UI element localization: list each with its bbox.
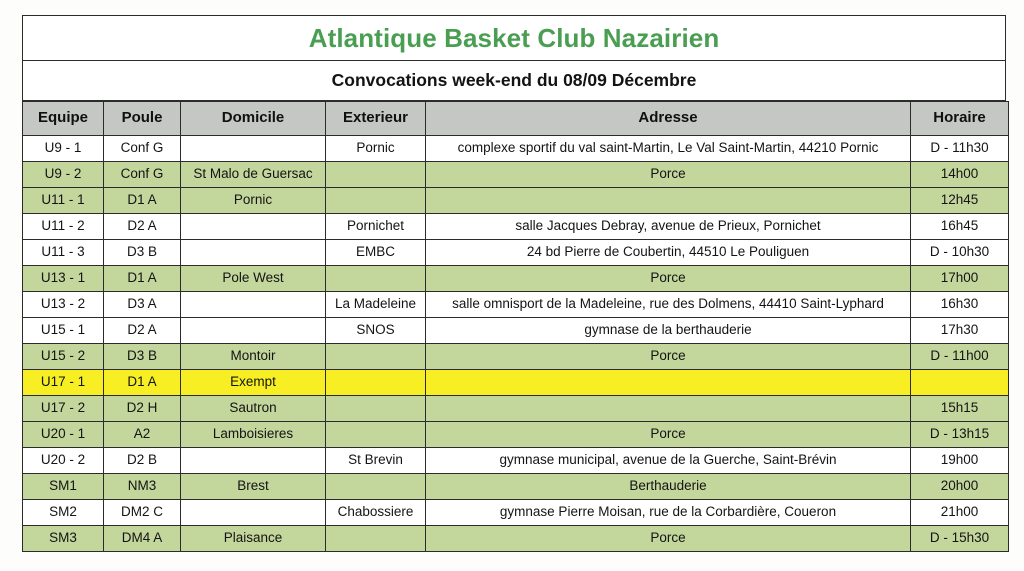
cell-exterieur: La Madeleine: [326, 292, 426, 318]
cell-horaire: 19h00: [911, 448, 1009, 474]
cell-domicile: Sautron: [181, 396, 326, 422]
document-banner: Atlantique Basket Club Nazairien Convoca…: [22, 15, 1006, 101]
cell-poule: D1 A: [104, 266, 181, 292]
column-header-equipe: Equipe: [23, 102, 104, 136]
table-row: U9 - 2Conf GSt Malo de GuersacPorce14h00: [23, 162, 1009, 188]
cell-horaire: D - 10h30: [911, 240, 1009, 266]
cell-poule: DM4 A: [104, 526, 181, 552]
cell-domicile: Pornic: [181, 188, 326, 214]
cell-equipe: U20 - 2: [23, 448, 104, 474]
cell-adresse: gymnase de la berthauderie: [426, 318, 911, 344]
cell-horaire: 16h30: [911, 292, 1009, 318]
cell-equipe: SM1: [23, 474, 104, 500]
cell-domicile: Exempt: [181, 370, 326, 396]
table-row: U13 - 1D1 APole WestPorce17h00: [23, 266, 1009, 292]
table-row: U17 - 2D2 HSautron15h15: [23, 396, 1009, 422]
cell-horaire: 17h00: [911, 266, 1009, 292]
cell-horaire: 14h00: [911, 162, 1009, 188]
cell-domicile: [181, 318, 326, 344]
cell-domicile: St Malo de Guersac: [181, 162, 326, 188]
cell-horaire: 15h15: [911, 396, 1009, 422]
cell-adresse: Porce: [426, 162, 911, 188]
cell-horaire: [911, 370, 1009, 396]
cell-horaire: D - 11h00: [911, 344, 1009, 370]
cell-horaire: 12h45: [911, 188, 1009, 214]
cell-equipe: U11 - 1: [23, 188, 104, 214]
convocation-sheet: Atlantique Basket Club Nazairien Convoca…: [22, 15, 1008, 552]
cell-poule: D2 A: [104, 318, 181, 344]
cell-exterieur: [326, 344, 426, 370]
title-row: Atlantique Basket Club Nazairien: [23, 16, 1006, 61]
cell-adresse: [426, 396, 911, 422]
cell-adresse: gymnase Pierre Moisan, rue de la Corbard…: [426, 500, 911, 526]
cell-poule: Conf G: [104, 162, 181, 188]
cell-exterieur: Pornic: [326, 136, 426, 162]
cell-adresse: gymnase municipal, avenue de la Guerche,…: [426, 448, 911, 474]
table-row: U20 - 2D2 BSt Brevingymnase municipal, a…: [23, 448, 1009, 474]
table-row: U11 - 1D1 APornic12h45: [23, 188, 1009, 214]
cell-adresse: Porce: [426, 266, 911, 292]
column-header-horaire: Horaire: [911, 102, 1009, 136]
cell-domicile: [181, 448, 326, 474]
cell-equipe: U17 - 1: [23, 370, 104, 396]
cell-exterieur: St Brevin: [326, 448, 426, 474]
cell-poule: D2 H: [104, 396, 181, 422]
cell-equipe: SM3: [23, 526, 104, 552]
cell-equipe: U20 - 1: [23, 422, 104, 448]
cell-poule: NM3: [104, 474, 181, 500]
column-header-poule: Poule: [104, 102, 181, 136]
cell-poule: D3 B: [104, 344, 181, 370]
cell-domicile: [181, 214, 326, 240]
cell-horaire: D - 15h30: [911, 526, 1009, 552]
scanned-page: Atlantique Basket Club Nazairien Convoca…: [0, 0, 1024, 571]
cell-exterieur: [326, 266, 426, 292]
cell-poule: D3 A: [104, 292, 181, 318]
cell-equipe: U13 - 2: [23, 292, 104, 318]
cell-exterieur: Chabossiere: [326, 500, 426, 526]
cell-equipe: U9 - 2: [23, 162, 104, 188]
column-header-domicile: Domicile: [181, 102, 326, 136]
page-title: Atlantique Basket Club Nazairien: [23, 16, 1006, 61]
cell-horaire: D - 11h30: [911, 136, 1009, 162]
cell-equipe: U13 - 1: [23, 266, 104, 292]
cell-exterieur: [326, 474, 426, 500]
cell-exterieur: [326, 422, 426, 448]
table-row: U15 - 1D2 ASNOSgymnase de la berthauderi…: [23, 318, 1009, 344]
table-body: U9 - 1Conf GPorniccomplexe sportif du va…: [23, 136, 1009, 552]
convocations-table: EquipePouleDomicileExterieurAdresseHorai…: [22, 101, 1009, 552]
cell-domicile: [181, 240, 326, 266]
cell-adresse: Berthauderie: [426, 474, 911, 500]
cell-horaire: 20h00: [911, 474, 1009, 500]
page-subtitle: Convocations week-end du 08/09 Décembre: [23, 61, 1006, 101]
cell-equipe: U9 - 1: [23, 136, 104, 162]
cell-exterieur: EMBC: [326, 240, 426, 266]
cell-domicile: [181, 292, 326, 318]
cell-adresse: Porce: [426, 344, 911, 370]
cell-poule: D2 A: [104, 214, 181, 240]
cell-exterieur: [326, 162, 426, 188]
cell-poule: D1 A: [104, 188, 181, 214]
cell-domicile: Lamboisieres: [181, 422, 326, 448]
cell-horaire: 17h30: [911, 318, 1009, 344]
table-row: U20 - 1A2LamboisieresPorceD - 13h15: [23, 422, 1009, 448]
cell-adresse: salle omnisport de la Madeleine, rue des…: [426, 292, 911, 318]
column-header-adresse: Adresse: [426, 102, 911, 136]
cell-poule: D2 B: [104, 448, 181, 474]
cell-domicile: Montoir: [181, 344, 326, 370]
cell-poule: A2: [104, 422, 181, 448]
cell-horaire: 16h45: [911, 214, 1009, 240]
cell-poule: Conf G: [104, 136, 181, 162]
cell-horaire: D - 13h15: [911, 422, 1009, 448]
cell-domicile: Plaisance: [181, 526, 326, 552]
cell-domicile: [181, 500, 326, 526]
cell-adresse: complexe sportif du val saint-Martin, Le…: [426, 136, 911, 162]
table-header: EquipePouleDomicileExterieurAdresseHorai…: [23, 102, 1009, 136]
cell-poule: DM2 C: [104, 500, 181, 526]
cell-exterieur: [326, 370, 426, 396]
cell-poule: D3 B: [104, 240, 181, 266]
cell-adresse: salle Jacques Debray, avenue de Prieux, …: [426, 214, 911, 240]
table-row: SM3DM4 APlaisancePorceD - 15h30: [23, 526, 1009, 552]
cell-exterieur: Pornichet: [326, 214, 426, 240]
cell-equipe: U11 - 3: [23, 240, 104, 266]
table-row: U15 - 2D3 BMontoirPorceD - 11h00: [23, 344, 1009, 370]
table-row: U17 - 1D1 AExempt: [23, 370, 1009, 396]
table-row: U11 - 2D2 APornichetsalle Jacques Debray…: [23, 214, 1009, 240]
cell-adresse: [426, 370, 911, 396]
cell-exterieur: [326, 188, 426, 214]
cell-adresse: Porce: [426, 422, 911, 448]
table-row: U13 - 2D3 ALa Madeleinesalle omnisport d…: [23, 292, 1009, 318]
cell-equipe: U17 - 2: [23, 396, 104, 422]
column-header-row: EquipePouleDomicileExterieurAdresseHorai…: [23, 102, 1009, 136]
cell-adresse: [426, 188, 911, 214]
table-row: U9 - 1Conf GPorniccomplexe sportif du va…: [23, 136, 1009, 162]
cell-adresse: 24 bd Pierre de Coubertin, 44510 Le Poul…: [426, 240, 911, 266]
subtitle-row: Convocations week-end du 08/09 Décembre: [23, 61, 1006, 101]
table-row: SM1NM3BrestBerthauderie20h00: [23, 474, 1009, 500]
column-header-exterieur: Exterieur: [326, 102, 426, 136]
table-row: SM2DM2 CChabossieregymnase Pierre Moisan…: [23, 500, 1009, 526]
table-row: U11 - 3D3 BEMBC24 bd Pierre de Coubertin…: [23, 240, 1009, 266]
cell-domicile: Pole West: [181, 266, 326, 292]
cell-poule: D1 A: [104, 370, 181, 396]
cell-exterieur: SNOS: [326, 318, 426, 344]
cell-equipe: U11 - 2: [23, 214, 104, 240]
cell-exterieur: [326, 396, 426, 422]
cell-equipe: SM2: [23, 500, 104, 526]
cell-horaire: 21h00: [911, 500, 1009, 526]
cell-exterieur: [326, 526, 426, 552]
cell-equipe: U15 - 1: [23, 318, 104, 344]
cell-adresse: Porce: [426, 526, 911, 552]
cell-domicile: Brest: [181, 474, 326, 500]
cell-equipe: U15 - 2: [23, 344, 104, 370]
cell-domicile: [181, 136, 326, 162]
